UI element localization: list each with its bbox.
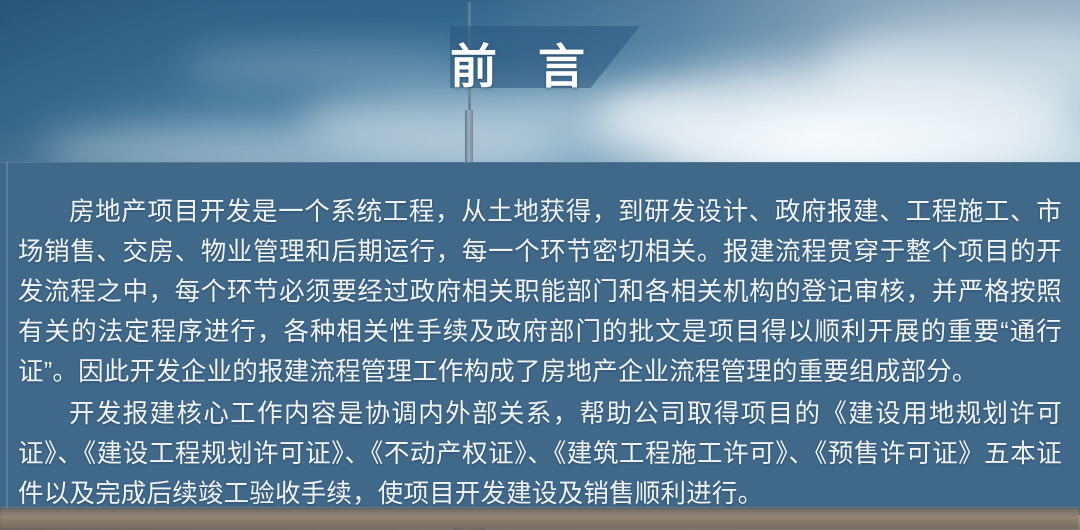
ground-shadow-overlay — [0, 508, 1080, 530]
cloud-shape — [180, 48, 480, 86]
content-panel: 房地产项目开发是一个系统工程，从土地获得，到研发设计、政府报建、工程施工、市场销… — [0, 162, 1080, 515]
paragraph-2: 开发报建核心工作内容是协调内外部关系，帮助公司取得项目的《建设用地规划许可证》、… — [18, 394, 1062, 514]
slide-root: 前 言 房地产项目开发是一个系统工程，从土地获得，到研发设计、政府报建、工程施工… — [0, 0, 1080, 530]
paragraph-1: 房地产项目开发是一个系统工程，从土地获得，到研发设计、政府报建、工程施工、市场销… — [18, 192, 1062, 392]
content-body: 房地产项目开发是一个系统工程，从土地获得，到研发设计、政府报建、工程施工、市场销… — [18, 192, 1062, 516]
page-title: 前 言 — [450, 30, 670, 102]
panel-left-accent — [6, 162, 8, 515]
